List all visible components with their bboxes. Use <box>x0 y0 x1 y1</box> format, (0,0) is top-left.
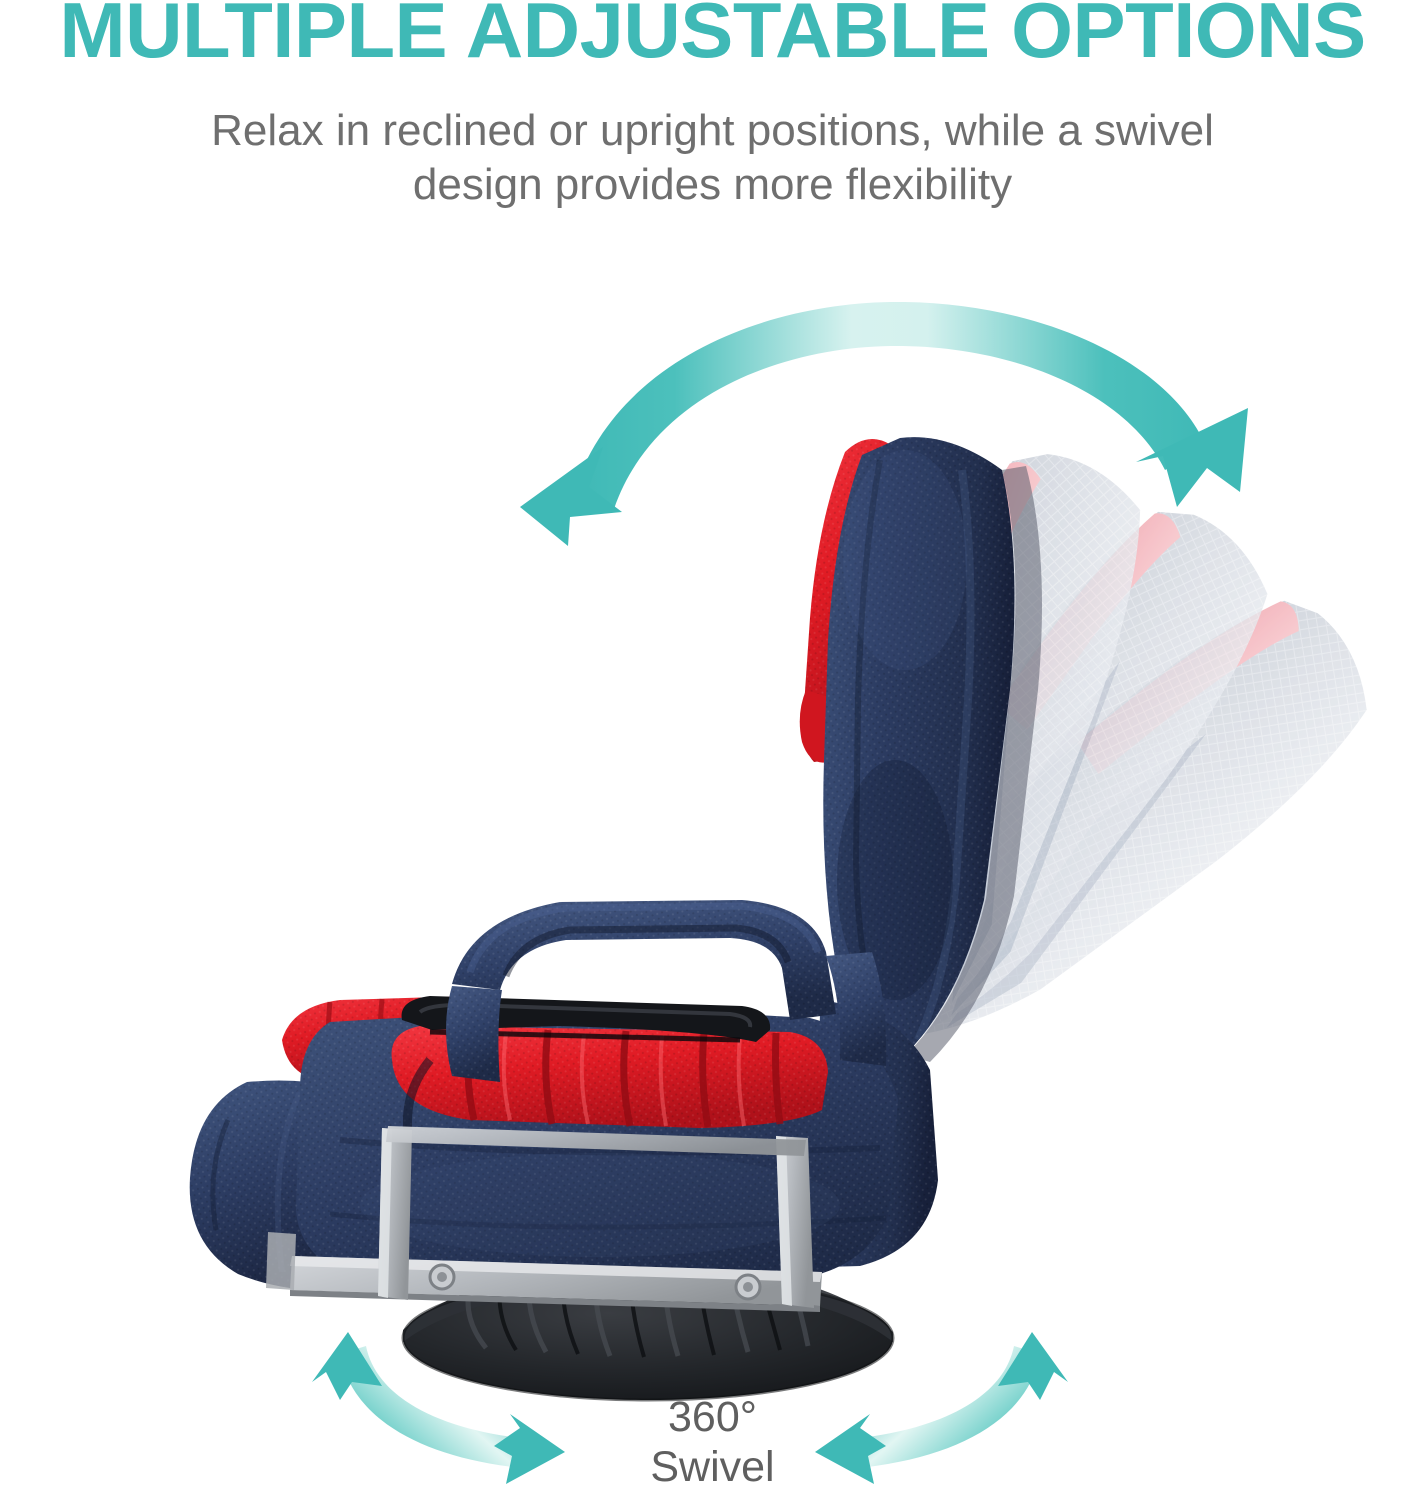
product-feature-graphic: MULTIPLE ADJUSTABLE OPTIONS Relax in rec… <box>0 0 1425 1500</box>
product-illustration <box>0 0 1425 1500</box>
swivel-action: Swivel <box>503 1442 923 1492</box>
swivel-callout-label: 360° Swivel <box>503 1392 923 1492</box>
seat-assembly <box>190 900 938 1291</box>
swivel-degrees: 360° <box>503 1392 923 1442</box>
